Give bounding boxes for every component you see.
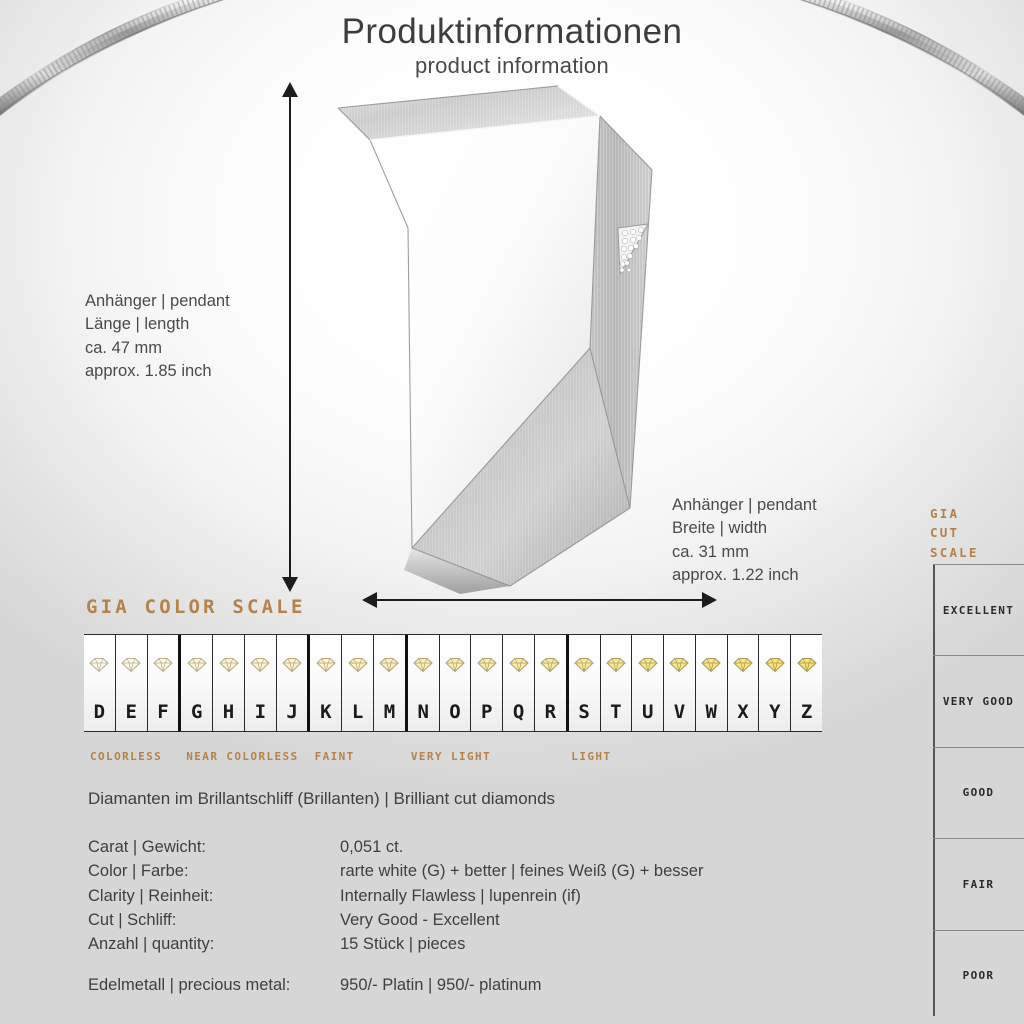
- spec-value: rarte white (G) + better | feines Weiß (…: [340, 859, 703, 883]
- color-category-colorless: COLORLESS: [90, 750, 162, 763]
- color-grade-cell-Z[interactable]: Z: [790, 635, 822, 731]
- page-title-en: product information: [0, 53, 1024, 79]
- color-category-very-light: VERY LIGHT: [411, 750, 491, 763]
- color-grade-letter: U: [642, 701, 653, 731]
- length-caption-line-4: approx. 1.85 inch: [85, 360, 230, 383]
- spec-label: Clarity | Reinheit:: [88, 884, 340, 908]
- spec-value: Very Good - Excellent: [340, 908, 703, 932]
- gia-cut-title-line-1: GIA: [930, 504, 979, 523]
- diamond-icon: [442, 657, 468, 673]
- cut-tier-fair[interactable]: FAIR: [933, 838, 1024, 929]
- diamond-icon: [150, 657, 176, 673]
- diamond-icon: [635, 657, 661, 673]
- product-information-sheet: Produktinformationen product information: [0, 0, 1024, 1024]
- spec-label: Color | Farbe:: [88, 859, 340, 883]
- color-grade-letter: T: [610, 701, 621, 731]
- cut-tier-label: FAIR: [963, 878, 995, 891]
- color-grade-letter: P: [481, 701, 492, 731]
- color-grade-letter: G: [191, 701, 202, 731]
- color-grade-cell-E[interactable]: E: [115, 635, 147, 731]
- length-caption-line-3: ca. 47 mm: [85, 337, 230, 360]
- width-caption-line-2: Breite | width: [672, 517, 817, 540]
- spec-row: Carat | Gewicht:0,051 ct.: [88, 835, 703, 859]
- diamond-icon: [247, 657, 273, 673]
- length-caption-line-2: Länge | length: [85, 313, 230, 336]
- color-grade-letter: H: [223, 701, 234, 731]
- color-category-faint: FAINT: [315, 750, 355, 763]
- gia-cut-scale-title: GIA CUT SCALE: [930, 504, 979, 562]
- color-grade-letter: M: [384, 701, 395, 731]
- length-caption-line-1: Anhänger | pendant: [85, 290, 230, 313]
- color-grade-cell-G[interactable]: G: [178, 635, 212, 731]
- precious-metal-value: 950/- Platin | 950/- platinum: [340, 976, 541, 995]
- cut-tier-very-good[interactable]: VERY GOOD: [933, 655, 1024, 746]
- color-grade-letter: N: [417, 701, 428, 731]
- diamond-icon: [603, 657, 629, 673]
- color-grade-cell-U[interactable]: U: [631, 635, 663, 731]
- page-title-block: Produktinformationen product information: [0, 14, 1024, 79]
- color-grade-letter: Q: [513, 701, 524, 731]
- spec-value: Internally Flawless | lupenrein (if): [340, 884, 703, 908]
- color-grade-cell-T[interactable]: T: [600, 635, 632, 731]
- page-title-de: Produktinformationen: [0, 14, 1024, 51]
- spec-label: Carat | Gewicht:: [88, 835, 340, 859]
- color-grade-cell-X[interactable]: X: [727, 635, 759, 731]
- diamond-icon: [730, 657, 756, 673]
- color-grade-letter: X: [737, 701, 748, 731]
- cut-tier-poor[interactable]: POOR: [933, 930, 1024, 1021]
- diamond-icon: [118, 657, 144, 673]
- color-grade-letter: J: [286, 701, 297, 731]
- diamond-icon: [184, 657, 210, 673]
- color-grade-cell-P[interactable]: P: [470, 635, 502, 731]
- color-grade-cell-H[interactable]: H: [212, 635, 244, 731]
- precious-metal-row: Edelmetall | precious metal: 950/- Plati…: [88, 976, 541, 995]
- color-grade-cell-W[interactable]: W: [695, 635, 727, 731]
- color-grade-cell-I[interactable]: I: [244, 635, 276, 731]
- color-grade-letter: O: [449, 701, 460, 731]
- width-caption-line-4: approx. 1.22 inch: [672, 564, 817, 587]
- color-grade-letter: K: [320, 701, 331, 731]
- cut-tier-good[interactable]: GOOD: [933, 747, 1024, 838]
- color-grade-cell-O[interactable]: O: [439, 635, 471, 731]
- diamond-icon: [345, 657, 371, 673]
- color-grade-letter: E: [125, 701, 136, 731]
- width-caption-line-3: ca. 31 mm: [672, 541, 817, 564]
- color-grade-cell-Q[interactable]: Q: [502, 635, 534, 731]
- color-grade-letter: Z: [801, 701, 812, 731]
- precious-metal-label: Edelmetall | precious metal:: [88, 976, 340, 995]
- diamond-icon: [279, 657, 305, 673]
- color-grade-letter: L: [352, 701, 363, 731]
- color-grade-letter: D: [94, 701, 105, 731]
- color-category-near-colorless: NEAR COLORLESS: [186, 750, 298, 763]
- cut-tier-label: EXCELLENT: [943, 604, 1014, 617]
- spec-row: Clarity | Reinheit:Internally Flawless |…: [88, 884, 703, 908]
- diamond-icon: [698, 657, 724, 673]
- color-grade-cell-D[interactable]: D: [84, 635, 115, 731]
- length-dimension-line: [289, 92, 291, 582]
- spec-label: Cut | Schliff:: [88, 908, 340, 932]
- spec-row: Anzahl | quantity:15 Stück | pieces: [88, 932, 703, 956]
- width-caption-line-1: Anhänger | pendant: [672, 494, 817, 517]
- spec-value: 0,051 ct.: [340, 835, 703, 859]
- pendant-illustration: [300, 78, 730, 598]
- diamond-icon: [537, 657, 563, 673]
- color-grade-letter: I: [255, 701, 266, 731]
- color-grade-letter: V: [674, 701, 685, 731]
- color-grade-cell-S[interactable]: S: [566, 635, 600, 731]
- color-grade-letter: F: [157, 701, 168, 731]
- cut-tier-label: VERY GOOD: [943, 695, 1014, 708]
- diamond-icon: [571, 657, 597, 673]
- gia-cut-title-line-3: SCALE: [930, 543, 979, 562]
- color-grade-letter: R: [545, 701, 556, 731]
- diamond-icon: [216, 657, 242, 673]
- diamond-icon: [86, 657, 112, 673]
- spec-label: Anzahl | quantity:: [88, 932, 340, 956]
- length-arrow-head-bottom: [282, 577, 298, 592]
- length-dimension-caption: Anhänger | pendant Länge | length ca. 47…: [85, 290, 230, 384]
- gia-cut-scale-tiers: EXCELLENTVERY GOODGOODFAIRPOOR: [933, 564, 1024, 1016]
- spec-row: Color | Farbe:rarte white (G) + better |…: [88, 859, 703, 883]
- diamond-icon: [376, 657, 402, 673]
- color-category-light: LIGHT: [571, 750, 611, 763]
- diamond-icon: [666, 657, 692, 673]
- color-grade-cell-Y[interactable]: Y: [758, 635, 790, 731]
- gia-color-scale-categories: COLORLESSNEAR COLORLESSFAINTVERY LIGHTLI…: [84, 750, 822, 770]
- color-grade-cell-M[interactable]: M: [373, 635, 405, 731]
- cut-tier-excellent[interactable]: EXCELLENT: [933, 564, 1024, 655]
- cut-tier-label: POOR: [963, 969, 995, 982]
- gia-color-scale: DEFGHIJKLMNOPQRSTUVWXYZ: [84, 634, 822, 732]
- diamond-spec-heading: Diamanten im Brillantschliff (Brillanten…: [88, 789, 555, 809]
- color-grade-cell-N[interactable]: N: [405, 635, 439, 731]
- width-dimension-caption: Anhänger | pendant Breite | width ca. 31…: [672, 494, 817, 588]
- diamond-icon: [506, 657, 532, 673]
- color-grade-cell-J[interactable]: J: [276, 635, 308, 731]
- width-dimension-line: [372, 599, 708, 601]
- spec-row: Cut | Schliff:Very Good - Excellent: [88, 908, 703, 932]
- gia-cut-scale: GIA CUT SCALE EXCELLENTVERY GOODGOODFAIR…: [906, 496, 1024, 1024]
- color-grade-letter: W: [706, 701, 717, 731]
- color-grade-cell-R[interactable]: R: [534, 635, 566, 731]
- diamond-icon: [313, 657, 339, 673]
- color-grade-cell-K[interactable]: K: [307, 635, 341, 731]
- diamond-icon: [410, 657, 436, 673]
- color-grade-cell-F[interactable]: F: [147, 635, 179, 731]
- color-grade-letter: Y: [769, 701, 780, 731]
- diamond-icon: [762, 657, 788, 673]
- gia-color-scale-title: GIA COLOR SCALE: [86, 596, 306, 618]
- cut-tier-label: GOOD: [963, 786, 995, 799]
- color-grade-cell-L[interactable]: L: [341, 635, 373, 731]
- color-grade-letter: S: [578, 701, 589, 731]
- diamond-spec-table: Carat | Gewicht:0,051 ct.Color | Farbe:r…: [88, 835, 703, 956]
- spec-value: 15 Stück | pieces: [340, 932, 703, 956]
- gia-cut-title-line-2: CUT: [930, 523, 979, 542]
- width-arrow-head-right: [702, 592, 717, 608]
- color-grade-cell-V[interactable]: V: [663, 635, 695, 731]
- diamond-icon: [794, 657, 820, 673]
- diamond-icon: [474, 657, 500, 673]
